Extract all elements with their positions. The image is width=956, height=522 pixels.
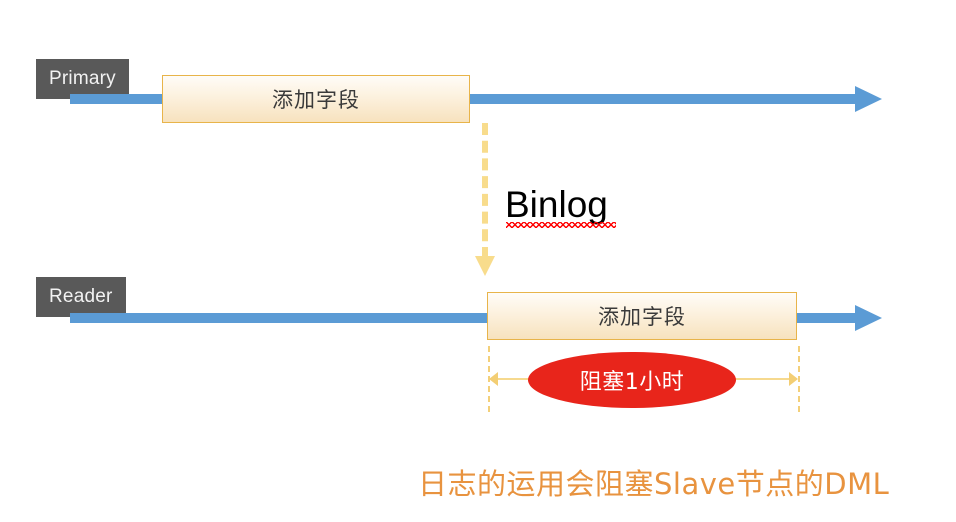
- binlog-dashed-line: [482, 123, 488, 259]
- binlog-dashed-arrow: [478, 123, 492, 283]
- diagram-canvas: Primary 添加字段 Binlog Reader 添加字段 阻塞1小时 日志…: [0, 0, 956, 522]
- operation-box-primary-label: 添加字段: [272, 84, 360, 114]
- role-label-primary: Primary: [36, 59, 129, 99]
- measure-arrowhead-left-icon: [489, 372, 498, 386]
- binlog-label: Binlog: [505, 186, 608, 223]
- measure-arrowhead-right-icon: [789, 372, 798, 386]
- timeline-arrowhead-primary: [855, 86, 882, 112]
- diagram-caption: 日志的运用会阻塞Slave节点的DML: [418, 467, 889, 502]
- blocking-duration-badge: 阻塞1小时: [528, 352, 736, 408]
- operation-box-reader: 添加字段: [487, 292, 797, 340]
- spellcheck-squiggle-underline: [506, 222, 616, 229]
- operation-box-reader-label: 添加字段: [598, 301, 686, 331]
- timeline-arrowhead-reader: [855, 305, 882, 331]
- measure-guide-right: [798, 346, 800, 412]
- role-label-reader: Reader: [36, 277, 126, 317]
- binlog-arrowhead-icon: [475, 256, 495, 276]
- blocking-duration-label: 阻塞1小时: [580, 364, 685, 396]
- operation-box-primary: 添加字段: [162, 75, 470, 123]
